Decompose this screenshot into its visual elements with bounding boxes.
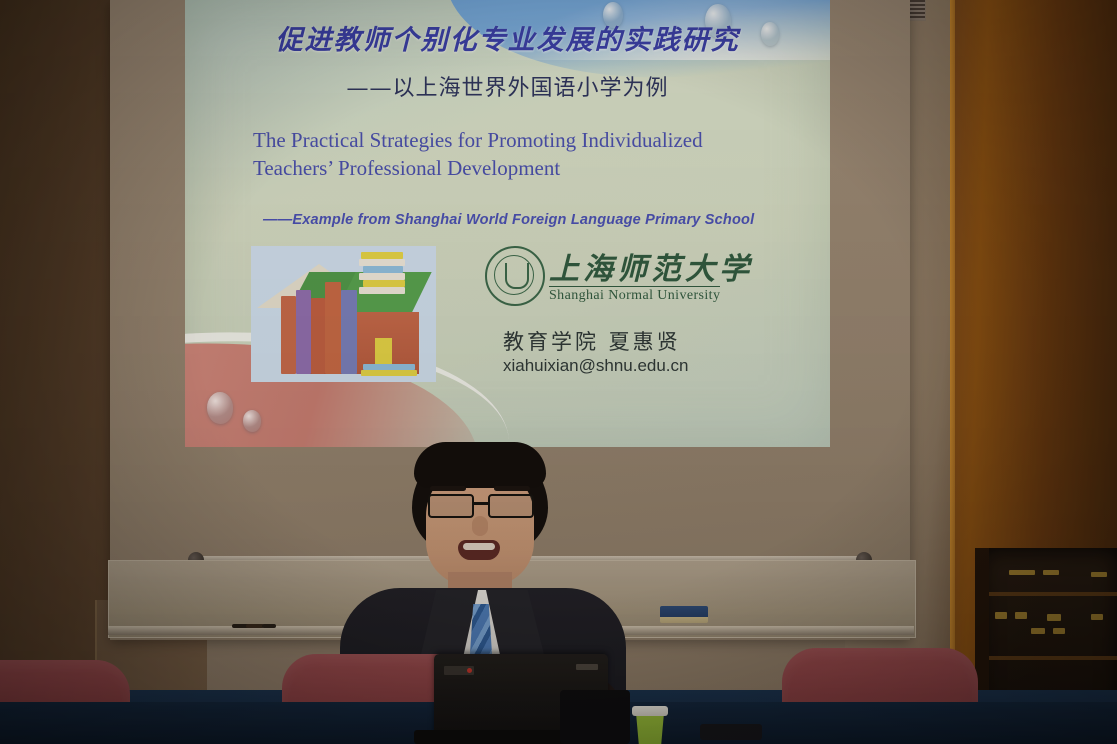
thinkpad-logo-icon: [444, 666, 474, 675]
slide-title-chinese: 促进教师个别化专业发展的实践研究: [185, 18, 830, 57]
cup-body: [634, 712, 666, 744]
cup-lid: [632, 706, 668, 716]
logo-text-chinese: 上海师范大学: [549, 244, 753, 288]
schoolhouse-clipart-icon: [251, 246, 436, 382]
dark-desk-object: [560, 690, 630, 744]
projected-slide: 促进教师个别化专业发展的实践研究 ——以上海世界外国语小学为例 The Prac…: [185, 0, 830, 447]
slide-title-english-line2: Teachers’ Professional Development: [253, 154, 773, 182]
photo-scene: 促进教师个别化专业发展的实践研究 ——以上海世界外国语小学为例 The Prac…: [0, 0, 1117, 744]
glasses-icon: [426, 494, 536, 514]
laptop-brand-logo-icon: [576, 664, 598, 670]
logo-text-english: Shanghai Normal University: [549, 286, 720, 304]
university-seal-icon: [485, 246, 545, 306]
coffee-cup: [632, 704, 668, 744]
slide-subtitle-chinese: ——以上海世界外国语小学为例: [185, 70, 830, 102]
slide-subtitle-english: ——Example from Shanghai World Foreign La…: [263, 212, 823, 228]
slide-presenter-name: 教育学院 夏惠贤: [503, 326, 763, 356]
presenter-hair-front: [414, 442, 546, 488]
presenter-mouth: [458, 540, 500, 560]
whiteboard-eraser: [660, 606, 708, 623]
mobile-phone: [700, 724, 762, 740]
whiteboard-marker: [262, 624, 276, 628]
slide-title-english-line1: The Practical Strategies for Promoting I…: [253, 126, 773, 154]
shnu-logo: 上海师范大学 Shanghai Normal University: [485, 244, 753, 310]
slide-title-english: The Practical Strategies for Promoting I…: [253, 126, 773, 182]
slide-presenter-email: xiahuixian@shnu.edu.cn: [503, 356, 763, 376]
